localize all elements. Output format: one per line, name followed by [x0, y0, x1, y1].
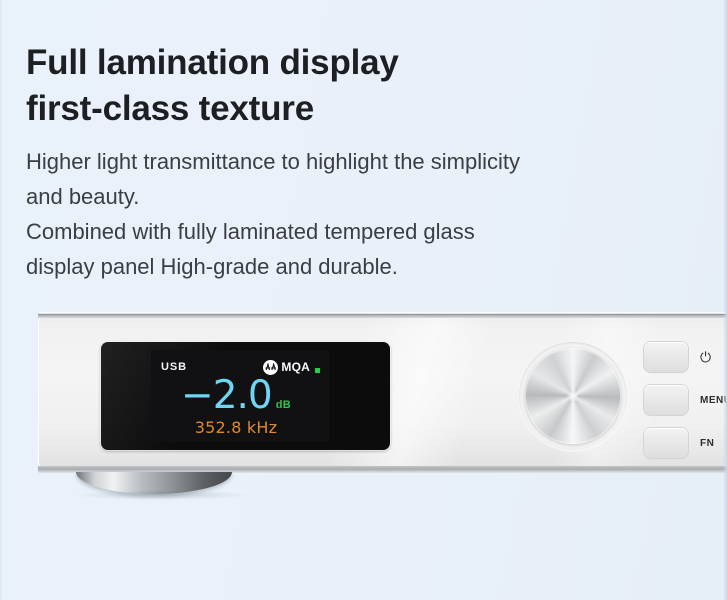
sample-rate-readout: 352.8 kHz — [151, 418, 321, 437]
input-source-label: USB — [161, 361, 187, 373]
menu-button-row: MENU — [644, 383, 727, 417]
volume-knob-well — [519, 342, 627, 450]
body-line-2: and beauty. — [26, 179, 666, 214]
volume-readout: −2.0 dB — [151, 376, 321, 416]
headline-line-2: first-class texture — [26, 86, 666, 132]
volume-knob[interactable] — [525, 348, 621, 444]
power-button[interactable] — [644, 342, 688, 372]
mqa-indicator: MQA — [263, 360, 320, 375]
fn-button-row: FN — [644, 426, 727, 460]
button-cluster: ⏻ MENU FN — [644, 340, 727, 466]
oled-screen[interactable]: USB MQA — [151, 350, 329, 442]
mqa-status-dot — [315, 368, 320, 373]
body-copy: Higher light transmittance to highlight … — [26, 144, 666, 284]
power-button-row: ⏻ — [644, 340, 727, 374]
fn-button[interactable] — [644, 428, 688, 458]
display-glass-panel: USB MQA — [101, 342, 390, 450]
knob-center-highlight — [567, 390, 579, 402]
chassis-front-panel: USB MQA — [38, 318, 727, 466]
fn-button-label: FN — [700, 438, 714, 449]
mqa-label: MQA — [281, 360, 310, 374]
dac-device: USB MQA — [38, 312, 727, 480]
body-line-1: Higher light transmittance to highlight … — [26, 144, 666, 179]
page-title: Full lamination display first-class text… — [26, 40, 666, 132]
headline-line-1: Full lamination display — [26, 43, 399, 82]
body-line-3: Combined with fully laminated tempered g… — [26, 214, 666, 249]
promo-page: Full lamination display first-class text… — [0, 0, 727, 600]
menu-button[interactable] — [644, 385, 688, 415]
chassis-foot — [76, 472, 232, 494]
copy-block: Full lamination display first-class text… — [26, 40, 666, 284]
body-line-4: display panel High-grade and durable. — [26, 249, 666, 284]
menu-button-label: MENU — [700, 395, 727, 406]
volume-unit: dB — [276, 399, 291, 411]
power-icon: ⏻ — [700, 350, 711, 364]
volume-value: −2.0 — [181, 376, 272, 416]
